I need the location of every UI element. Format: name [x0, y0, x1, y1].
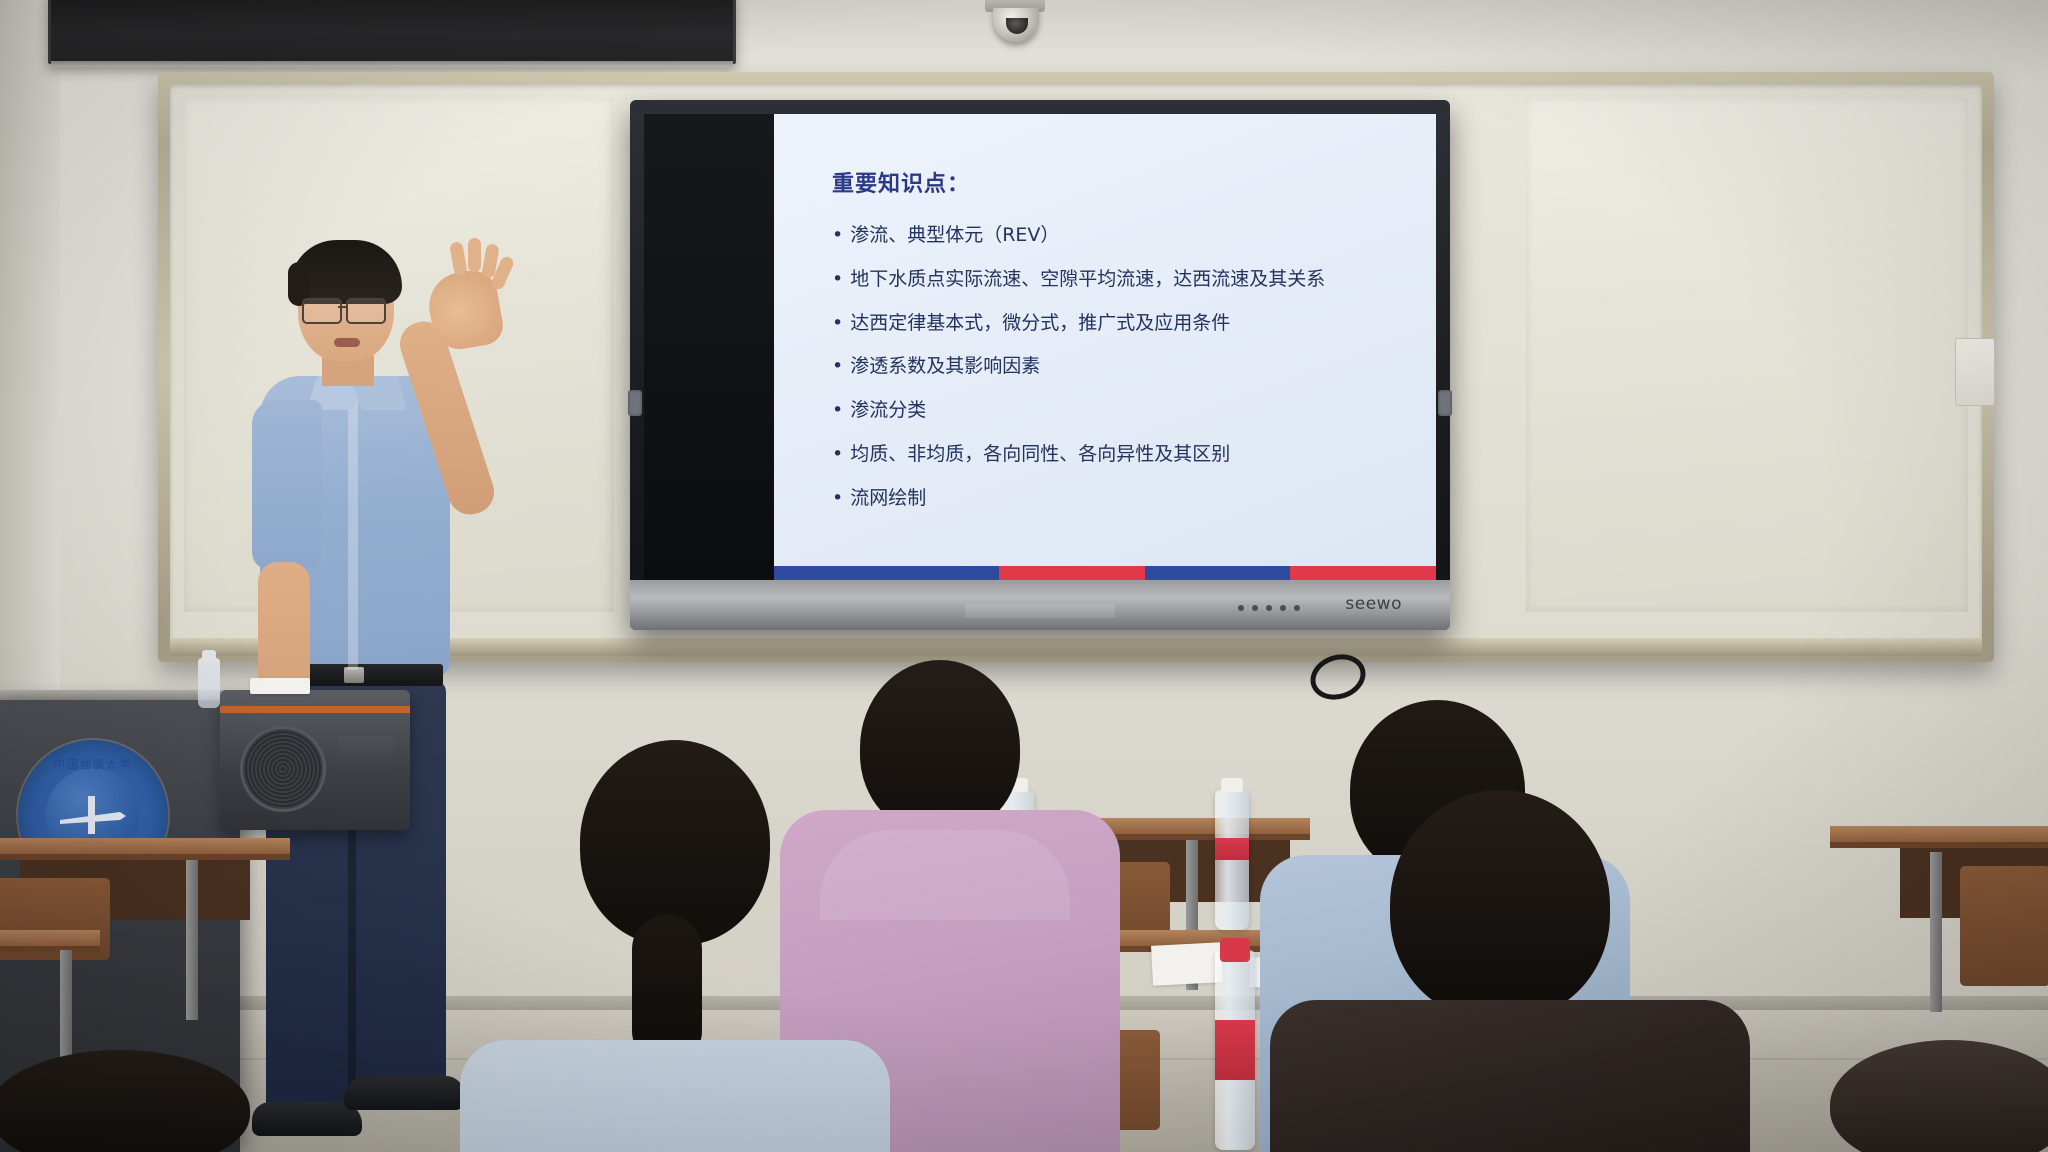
- classroom-photo: 重要知识点： • 渗流、典型体元（REV） • 地下水质点实际流速、空隙平均流速…: [0, 0, 2048, 1152]
- desk-leg: [186, 860, 198, 1020]
- podium-water-bottle[interactable]: [198, 658, 220, 708]
- student-dark-top: [1270, 1000, 1750, 1152]
- water-bottle-label-2: [1215, 838, 1249, 860]
- slide-bar-blue-2: [1145, 566, 1291, 580]
- slide-bullet-text: 达西定律基本式，微分式，推广式及应用条件: [850, 312, 1230, 336]
- cart-accent-stripe: [220, 706, 410, 713]
- chair-back-right[interactable]: [1960, 866, 2048, 986]
- slide-footer-bars: [774, 566, 1436, 580]
- bullet-marker-icon: •: [832, 312, 843, 336]
- display-bezel: seewo: [630, 580, 1450, 630]
- display-screen[interactable]: 重要知识点： • 渗流、典型体元（REV） • 地下水质点实际流速、空隙平均流速…: [644, 114, 1436, 580]
- desk-edge-left-front: [0, 946, 100, 952]
- presenter-shirt-placket: [348, 390, 358, 670]
- desk-surface-left-front: [0, 930, 100, 946]
- slide-bullet-text: 渗流、典型体元（REV）: [850, 224, 1059, 248]
- water-bottle-cap-2: [1221, 778, 1243, 792]
- presenter-finger: [468, 238, 481, 272]
- slide-bullet-4: • 渗透系数及其影响因素: [832, 355, 1416, 379]
- glasses-lens-left-icon: [302, 298, 342, 324]
- panel-side-button-left[interactable]: [628, 390, 642, 416]
- slide-title: 重要知识点：: [832, 166, 1416, 198]
- slide-bullet-5: • 渗流分类: [832, 399, 1416, 423]
- presenter-leg-split: [348, 810, 356, 1110]
- bullet-marker-icon: •: [832, 268, 843, 292]
- bullet-marker-icon: •: [832, 355, 843, 379]
- slide-bullet-7: • 流网绘制: [832, 487, 1416, 511]
- emblem-chinese-name: 中国地质大学: [18, 756, 168, 772]
- panel-side-button-right[interactable]: [1438, 390, 1452, 416]
- presenter-mouth: [334, 338, 360, 347]
- bullet-marker-icon: •: [832, 487, 843, 511]
- desk-leg: [1930, 852, 1942, 1012]
- glasses-lens-right-icon: [346, 298, 386, 324]
- whiteboard-wing-right[interactable]: [1526, 98, 1968, 612]
- display-control-bar[interactable]: [965, 604, 1115, 618]
- presenter-sleeve-left: [252, 400, 322, 570]
- display-indicator-dots: [1238, 605, 1300, 611]
- student-shirt: [460, 1040, 890, 1152]
- slide-bar-red-2: [1290, 566, 1436, 580]
- slide-bar-red-1: [999, 566, 1145, 580]
- slide-bullet-text: 地下水质点实际流速、空隙平均流速，达西流速及其关系: [850, 268, 1325, 292]
- av-control-unit[interactable]: [220, 690, 410, 830]
- slide-content: 重要知识点： • 渗流、典型体元（REV） • 地下水质点实际流速、空隙平均流速…: [832, 166, 1416, 530]
- student-head: [580, 740, 770, 945]
- desk-surface-right: [1830, 826, 2048, 842]
- interactive-display[interactable]: 重要知识点： • 渗流、典型体元（REV） • 地下水质点实际流速、空隙平均流速…: [630, 100, 1450, 630]
- presentation-slide[interactable]: 重要知识点： • 渗流、典型体元（REV） • 地下水质点实际流速、空隙平均流速…: [774, 114, 1436, 580]
- wall-left-edge: [0, 0, 60, 700]
- slide-bullet-text: 渗透系数及其影响因素: [850, 355, 1040, 379]
- bullet-marker-icon: •: [832, 399, 843, 423]
- paper-sheet-center[interactable]: [1151, 942, 1223, 986]
- student-head: [1390, 790, 1610, 1020]
- water-bottle-cap-3: [1220, 938, 1250, 962]
- glasses-bridge-icon: [338, 306, 348, 308]
- slide-bullet-1: • 渗流、典型体元（REV）: [832, 224, 1416, 248]
- speaker-grille-icon: [240, 726, 326, 812]
- podium-bottle-cap: [202, 650, 216, 660]
- slide-bullet-text: 均质、非均质，各向同性、各向异性及其区别: [850, 443, 1230, 467]
- cart-panel[interactable]: [338, 736, 394, 776]
- slide-bullet-3: • 达西定律基本式，微分式，推广式及应用条件: [832, 312, 1416, 336]
- bullet-marker-icon: •: [832, 443, 843, 467]
- slide-bullet-2: • 地下水质点实际流速、空隙平均流速，达西流速及其关系: [832, 268, 1416, 292]
- water-bottle-2[interactable]: [1215, 790, 1249, 930]
- bullet-marker-icon: •: [832, 224, 843, 248]
- display-brand-logo: seewo: [1345, 594, 1402, 614]
- slide-bullet-text: 渗流分类: [850, 399, 926, 423]
- podium-papers[interactable]: [250, 678, 310, 694]
- slide-bullet-text: 流网绘制: [850, 487, 926, 511]
- wall-outlet-plate: [1955, 338, 1995, 406]
- student-hood: [820, 830, 1070, 920]
- desk-surface-left-back: [0, 838, 290, 854]
- upper-dark-panel: [48, 0, 736, 64]
- slide-bar-blue-1: [774, 566, 999, 580]
- slide-bullet-6: • 均质、非均质，各向同性、各向异性及其区别: [832, 443, 1416, 467]
- presenter-shoe-right: [344, 1076, 464, 1110]
- water-bottle-label-3: [1215, 1020, 1255, 1080]
- student-head: [860, 660, 1020, 835]
- emblem-hammer-icon: [58, 794, 128, 836]
